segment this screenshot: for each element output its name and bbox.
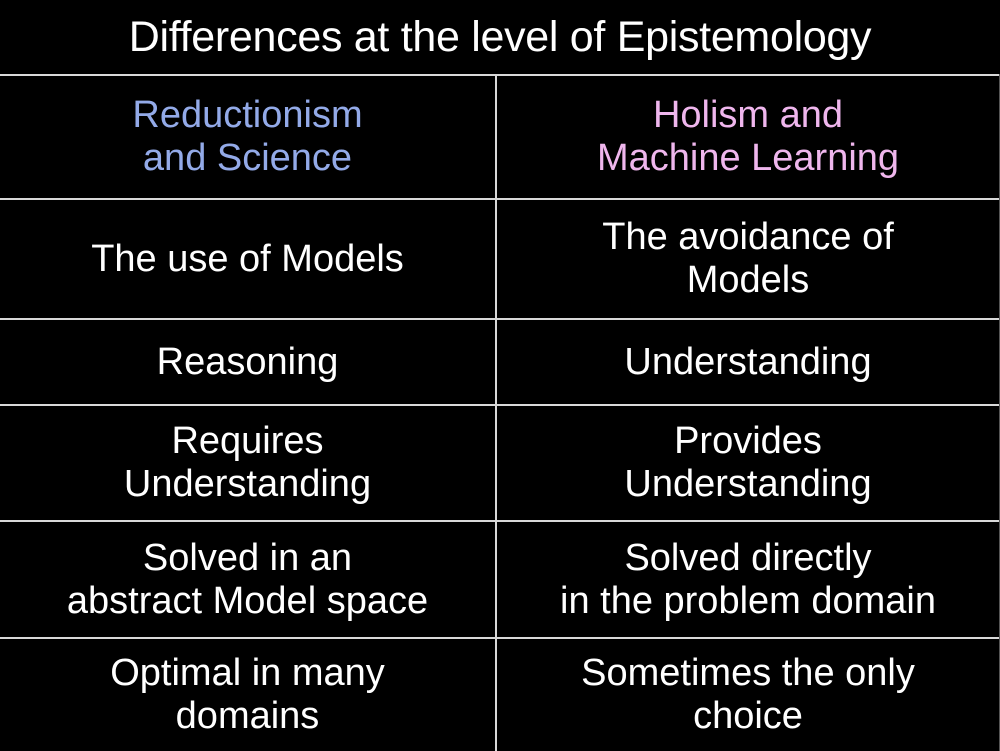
table-cell-right: Solved directly in the problem domain	[496, 521, 1000, 638]
table-cell-left: Requires Understanding	[0, 405, 496, 521]
page-title: Differences at the level of Epistemology	[0, 0, 1000, 74]
table-cell-text-right: The avoidance of Models	[503, 216, 993, 301]
table-cell-text-left: Requires Understanding	[6, 420, 489, 505]
presentation-slide: Differences at the level of Epistemology…	[0, 0, 1000, 750]
table-row: Requires Understanding Provides Understa…	[0, 405, 1000, 521]
table-cell-right: The avoidance of Models	[496, 199, 1000, 319]
table-row: Reasoning Understanding	[0, 319, 1000, 405]
table-cell-text-left: Solved in an abstract Model space	[6, 537, 489, 622]
table-cell-right: Sometimes the only choice	[496, 638, 1000, 751]
comparison-table: Reductionism and Science Holism and Mach…	[0, 74, 1000, 751]
table-cell-right: Understanding	[496, 319, 1000, 405]
table-cell-text-left: Reasoning	[6, 341, 489, 384]
table-cell-left: Optimal in many domains	[0, 638, 496, 751]
table-header-label-right: Holism and Machine Learning	[503, 94, 993, 179]
table-cell-text-right: Provides Understanding	[503, 420, 993, 505]
table-cell-text-left: The use of Models	[6, 238, 489, 281]
table-cell-text-right: Understanding	[503, 341, 993, 384]
table-header-label-left: Reductionism and Science	[6, 94, 489, 179]
table-cell-text-right: Solved directly in the problem domain	[503, 537, 993, 622]
table-header-cell-reductionism: Reductionism and Science	[0, 75, 496, 199]
table-row: The use of Models The avoidance of Model…	[0, 199, 1000, 319]
table-cell-left: Reasoning	[0, 319, 496, 405]
table-cell-text-right: Sometimes the only choice	[503, 652, 993, 737]
table-header-cell-holism: Holism and Machine Learning	[496, 75, 1000, 199]
table-cell-left: The use of Models	[0, 199, 496, 319]
table-cell-right: Provides Understanding	[496, 405, 1000, 521]
table-row: Solved in an abstract Model space Solved…	[0, 521, 1000, 638]
table-cell-left: Solved in an abstract Model space	[0, 521, 496, 638]
table-row: Optimal in many domains Sometimes the on…	[0, 638, 1000, 751]
table-cell-text-left: Optimal in many domains	[6, 652, 489, 737]
table-header-row: Reductionism and Science Holism and Mach…	[0, 75, 1000, 199]
